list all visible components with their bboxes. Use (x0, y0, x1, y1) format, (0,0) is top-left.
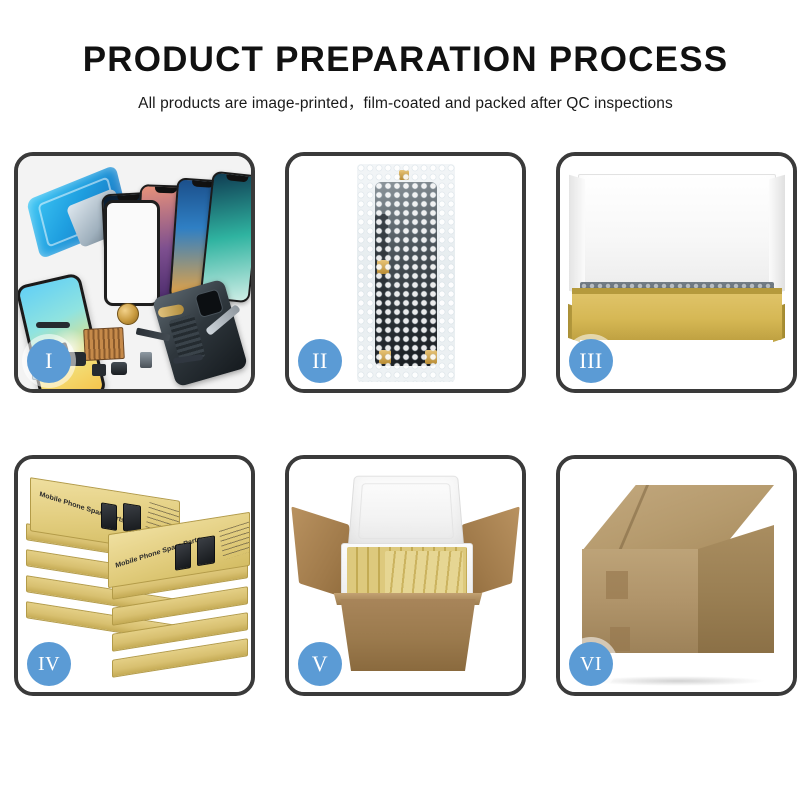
step-panel-6: VI (556, 455, 797, 696)
chip-graphic (83, 327, 125, 361)
screen-glass-graphic (104, 200, 160, 306)
bubble-texture (357, 164, 455, 382)
step-panel-3: III (556, 152, 797, 393)
carton-left-face (582, 549, 698, 653)
carton-tape-graphic (606, 571, 628, 599)
kraft-box-base-graphic (572, 292, 782, 340)
step-panel-1: I (14, 152, 255, 393)
step-numeral: VI (580, 654, 602, 674)
header: PRODUCT PREPARATION PROCESS All products… (0, 40, 811, 113)
box-artwork-lcd (197, 535, 215, 566)
product-preparation-infographic: PRODUCT PREPARATION PROCESS All products… (0, 0, 811, 811)
step-badge-5: V (298, 642, 342, 686)
step-numeral: V (312, 653, 328, 675)
carton-body-graphic (333, 599, 483, 671)
inner-boxes-graphic (385, 551, 463, 595)
step-panel-2: II (285, 152, 526, 393)
foam-lid-graphic (348, 476, 465, 549)
step-panel-5: V (285, 455, 526, 696)
small-part-graphic (36, 322, 70, 328)
step-badge-6: VI (569, 642, 613, 686)
page-title: PRODUCT PREPARATION PROCESS (0, 40, 811, 80)
process-steps-grid: I II (14, 152, 797, 696)
step-badge-3: III (569, 339, 613, 383)
carton-tape-graphic (610, 627, 630, 651)
box-lid-graphic (578, 174, 776, 296)
box-text-lines (219, 518, 250, 560)
box-artwork-lcd (175, 542, 191, 571)
bubble-wrap-bag-graphic (357, 164, 455, 382)
step-badge-4: IV (27, 642, 71, 686)
carton-shadow (590, 676, 766, 686)
speaker-module-graphic (117, 303, 139, 325)
step-numeral: I (45, 350, 53, 372)
small-part-graphic (140, 352, 152, 368)
step-numeral: II (312, 350, 328, 372)
step-badge-1: I (27, 339, 71, 383)
small-part-graphic (111, 362, 127, 375)
step-badge-2: II (298, 339, 342, 383)
step-panel-4: Mobile Phone Spare Parts Mobile Phone Sp… (14, 455, 255, 696)
step-numeral: III (579, 350, 602, 372)
small-part-graphic (92, 364, 106, 376)
box-artwork-lcd (101, 502, 117, 531)
step-numeral: IV (38, 654, 60, 674)
page-subtitle: All products are image-printed，film-coat… (0, 91, 811, 113)
